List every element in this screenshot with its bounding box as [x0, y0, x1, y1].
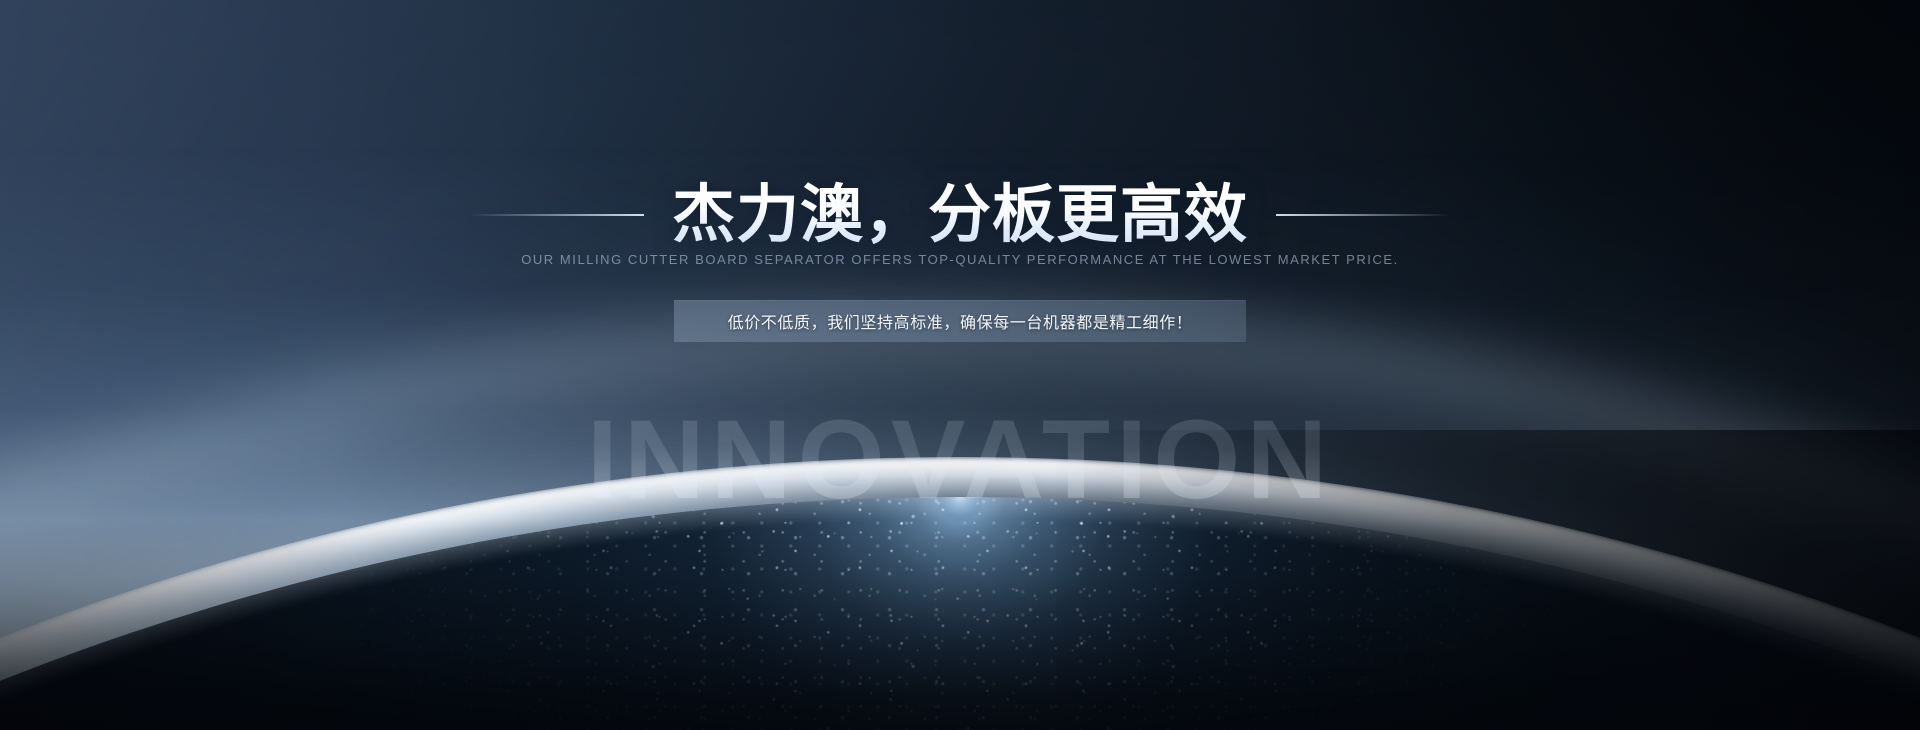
divider-line-right-icon: [1276, 214, 1448, 216]
vignette-overlay: [0, 0, 1920, 730]
subtitle-text: OUR MILLING CUTTER BOARD SEPARATOR OFFER…: [0, 252, 1920, 267]
headline-row: 杰力澳，分板更高效: [0, 138, 1920, 293]
page-title: 杰力澳，分板更高效: [672, 180, 1248, 251]
hero-banner: INNOVATION 杰力澳，分板更高效 OUR MILLING CUTTER …: [0, 0, 1920, 730]
tagline-bar: 低价不低质，我们坚持高标准，确保每一台机器都是精工细作！: [674, 300, 1246, 342]
tagline-text: 低价不低质，我们坚持高标准，确保每一台机器都是精工细作！: [728, 309, 1193, 333]
divider-line-left-icon: [472, 214, 644, 216]
